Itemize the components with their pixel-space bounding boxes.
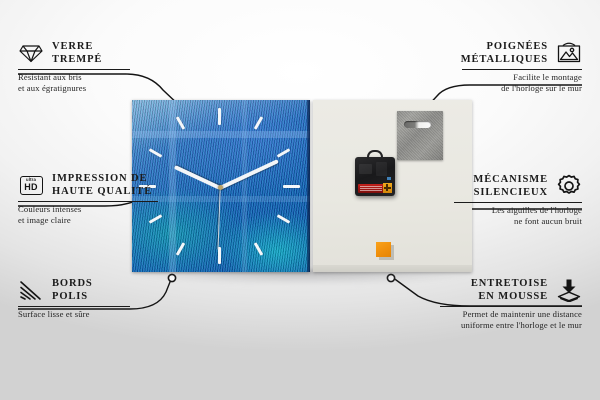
feature-description: Permet de maintenir une distance uniform… [440, 309, 582, 331]
clock-face [132, 100, 310, 272]
feature-divider [18, 306, 130, 307]
clock-back-panel [313, 100, 472, 272]
feature-title: ENTRETOISE EN MOUSSE [471, 277, 548, 303]
polished-edges-icon [18, 278, 44, 302]
picture-frame-hanger-icon [556, 41, 582, 65]
arrow-into-layer-icon [556, 278, 582, 302]
feature-description: Surface lisse et sûre [18, 309, 130, 320]
feature-description: Couleurs intenses et image claire [18, 204, 158, 226]
minute-hand [219, 159, 279, 190]
feature-poignees-metalliques: POIGNÉES MÉTALLIQUES Facilite le montage… [462, 40, 582, 94]
battery [358, 184, 390, 193]
ultra-hd-icon: ultra HD [18, 173, 44, 197]
feature-description: Résistant aux bris et aux égratignures [18, 72, 130, 94]
feature-title: VERRE TREMPÉ [52, 40, 102, 66]
hanger-keyhole-slot [404, 121, 431, 128]
feature-title: BORDS POLIS [52, 277, 93, 303]
product-photo [132, 100, 472, 275]
feature-title: MÉCANISME SILENCIEUX [473, 173, 548, 199]
feature-divider [18, 201, 158, 202]
clock-mechanism [355, 157, 395, 196]
hour-hand [174, 165, 221, 190]
feature-impression-haute-qualite: ultra HD IMPRESSION DE HAUTE QUALITÉ Cou… [18, 172, 158, 226]
feature-divider [462, 69, 582, 70]
feature-bords-polis: BORDS POLIS Surface lisse et sûre [18, 277, 130, 320]
battery-plus-terminal [383, 183, 392, 193]
feature-description: Facilite le montage de l'horloge sur le … [462, 72, 582, 94]
feature-mecanisme-silencieux: MÉCANISME SILENCIEUX Les aiguilles de l'… [454, 173, 582, 227]
mechanism-hook [367, 150, 383, 159]
product-shadow [136, 270, 472, 284]
metal-hanger-plate [397, 111, 443, 160]
infographic-stage: VERRE TREMPÉ Résistant aux bris et aux é… [0, 0, 600, 400]
feature-title: POIGNÉES MÉTALLIQUES [461, 40, 548, 66]
clock-center-pin [218, 185, 223, 190]
diamond-icon [18, 41, 44, 65]
feature-divider [454, 202, 582, 203]
feature-divider [440, 306, 582, 307]
feature-entretoise-en-mousse: ENTRETOISE EN MOUSSE Permet de maintenir… [440, 277, 582, 331]
foam-spacer [376, 242, 391, 257]
gear-icon [556, 174, 582, 198]
feature-verre-trempe: VERRE TREMPÉ Résistant aux bris et aux é… [18, 40, 130, 94]
ultra-hd-icon-main-text: HD [24, 183, 38, 192]
feature-divider [18, 69, 130, 70]
feature-title: IMPRESSION DE HAUTE QUALITÉ [52, 172, 152, 198]
feature-description: Les aiguilles de l'horloge ne font aucun… [454, 205, 582, 227]
